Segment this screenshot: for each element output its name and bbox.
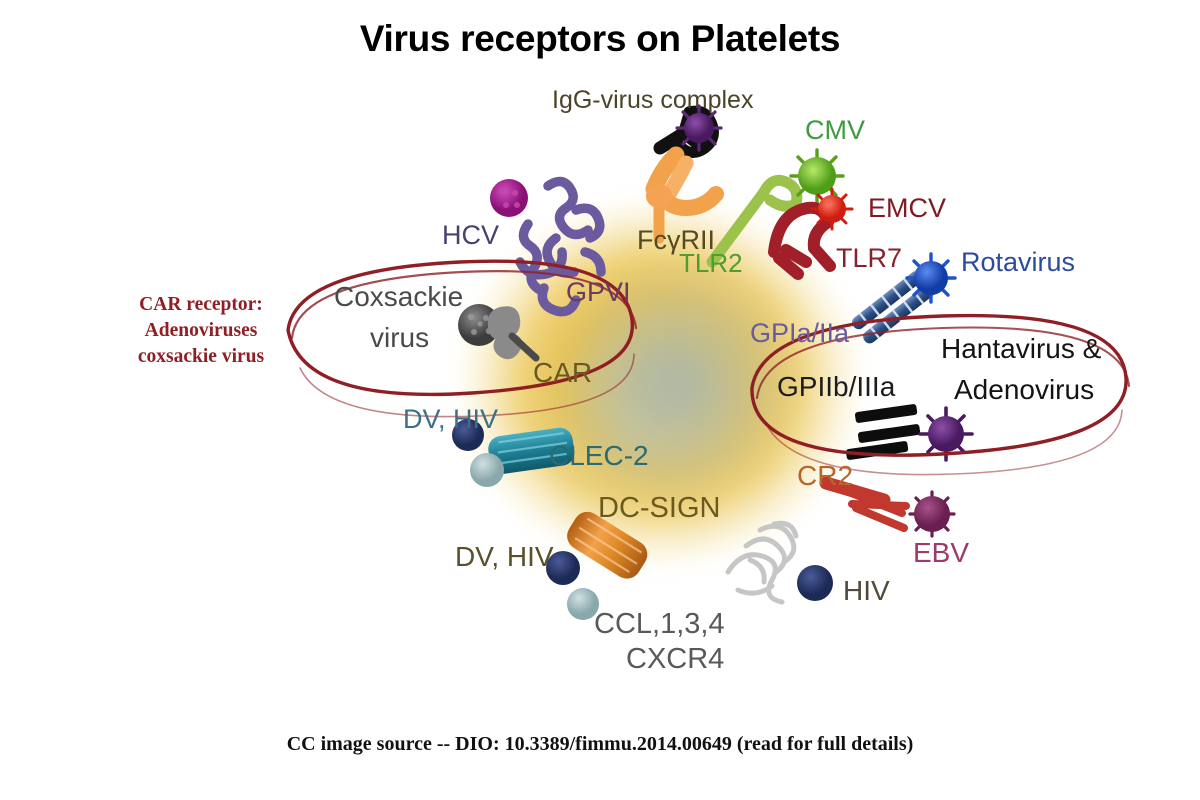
label-hiv: HIV	[843, 575, 890, 607]
car-annotation-line-1: CAR receptor:	[96, 292, 306, 318]
car-annotation-line-2: Adenoviruses	[96, 318, 306, 344]
label-hantavirus: Hantavirus &	[941, 333, 1101, 365]
hiv-particle-upper-icon	[470, 453, 504, 487]
label-dv-hiv-upper: DV, HIV	[403, 404, 498, 435]
label-gpia-iia: GPIa/IIa	[750, 318, 849, 349]
gpiib-iiia-receptor-icon	[846, 404, 921, 461]
label-ccl-1-3-4: CCL,1,3,4	[594, 608, 725, 641]
adenovirus-virus-icon	[920, 408, 972, 460]
label-gpvi: GPVI	[566, 277, 631, 308]
label-dv-hiv-lower: DV, HIV	[455, 541, 554, 573]
car-receptor-icon	[488, 306, 536, 359]
label-cmv: CMV	[805, 115, 865, 146]
label-hcv: HCV	[442, 220, 499, 251]
label-coxsackie-line2: virus	[370, 322, 429, 354]
label-emcv: EMCV	[868, 193, 946, 224]
rotavirus-virus-icon	[907, 254, 955, 302]
label-adenovirus: Adenovirus	[954, 374, 1094, 406]
label-coxsackie-line1: Coxsackie	[334, 281, 463, 313]
label-cxcr4: CXCR4	[626, 643, 724, 676]
cxcr4-receptor-icon	[728, 523, 796, 602]
label-clec-2: CLEC-2	[549, 440, 649, 472]
label-dc-sign: DC-SIGN	[598, 492, 720, 525]
emcv-virus-icon	[812, 189, 852, 229]
label-tlr2: TLR2	[679, 248, 743, 279]
label-tlr7: TLR7	[836, 243, 902, 274]
label-car: CAR	[533, 357, 592, 389]
car-annotation: CAR receptor: Adenoviruses coxsackie vir…	[96, 292, 306, 370]
label-ebv: EBV	[913, 537, 969, 569]
label-cr2: CR2	[797, 460, 853, 492]
label-rotavirus: Rotavirus	[961, 247, 1075, 278]
ebv-virus-icon	[910, 492, 954, 536]
hcv-virus-icon	[490, 179, 528, 217]
label-igg-virus-complex: IgG-virus complex	[552, 86, 753, 115]
hiv-particle-right-icon	[797, 565, 833, 601]
label-gpiib-iiia: GPIIb/IIIa	[777, 371, 895, 403]
diagram-canvas: Virus receptors on Platelets	[0, 0, 1200, 800]
car-annotation-line-3: coxsackie virus	[96, 344, 306, 370]
source-caption: CC image source -- DIO: 10.3389/fimmu.20…	[0, 733, 1200, 756]
